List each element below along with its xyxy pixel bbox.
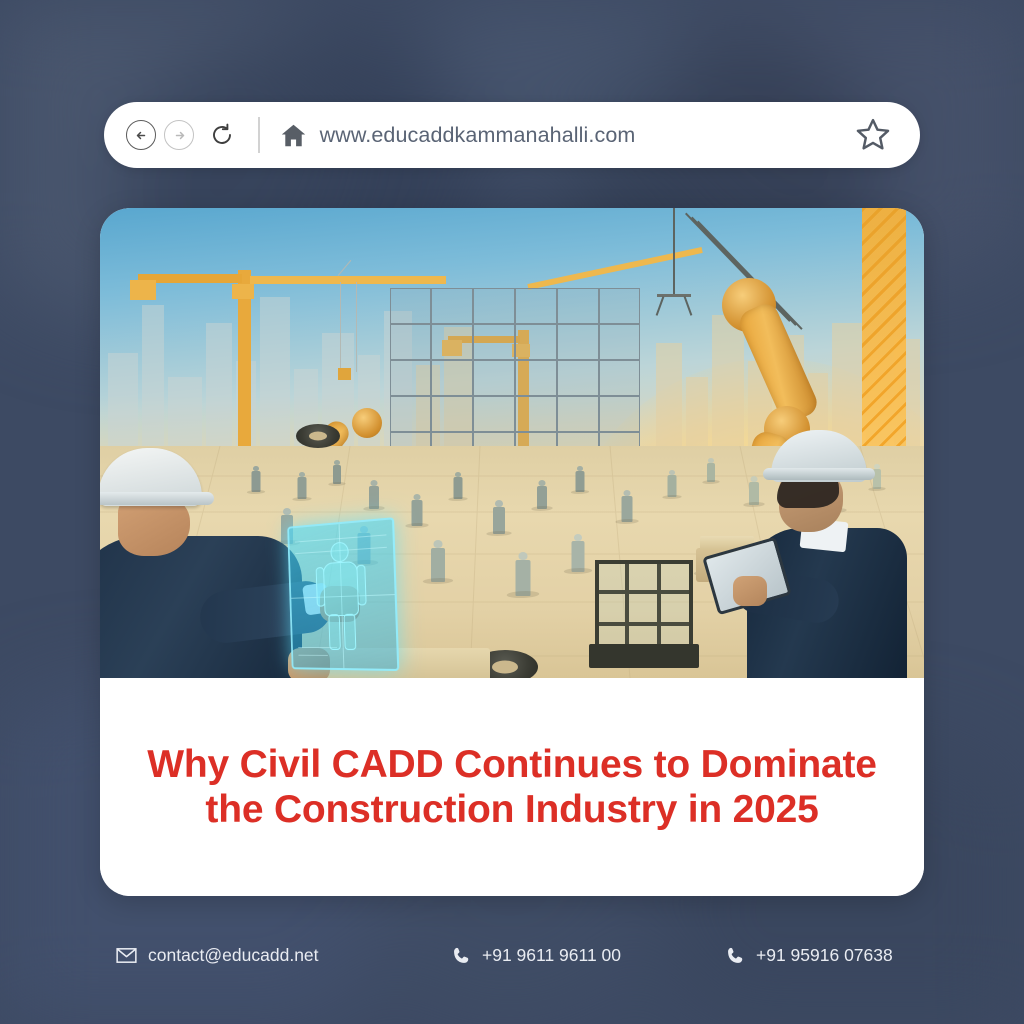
envelope-icon [116,945,137,966]
contact-footer: contact@educadd.net +91 9611 9611 00 +91… [0,928,1024,982]
bookmark-button[interactable] [854,116,920,154]
title-block: Why Civil CADD Continues to Dominate the… [100,678,924,896]
hologram-human-figure [315,540,368,650]
footer-phone-2-label: +91 95916 07638 [756,945,893,966]
footer-email-label: contact@educadd.net [148,945,319,966]
url-text[interactable]: www.educaddkammanahalli.com [320,123,636,148]
phone-icon [726,946,745,965]
footer-email[interactable]: contact@educadd.net [116,945,319,966]
hero-illustration [100,208,924,678]
home-icon[interactable] [280,122,307,149]
reload-icon [209,122,235,148]
footer-phone-1[interactable]: +91 9611 9611 00 [452,945,621,966]
phone-icon [452,946,471,965]
browser-address-bar: www.educaddkammanahalli.com [104,102,920,168]
reload-button[interactable] [206,119,238,151]
back-button[interactable] [126,120,156,150]
arrow-left-circle-icon [133,127,150,144]
arrow-right-circle-icon [171,127,188,144]
page-title: Why Civil CADD Continues to Dominate the… [132,742,892,832]
engineer-with-tablet [727,424,912,678]
browser-nav-buttons [104,119,238,151]
glass-cube-structure [595,560,693,668]
footer-phone-1-label: +91 9611 9611 00 [482,945,621,966]
article-card: Why Civil CADD Continues to Dominate the… [100,208,924,896]
social-post-graphic: www.educaddkammanahalli.com [0,0,1024,1024]
star-outline-icon [854,116,892,154]
holographic-bim-panel [287,517,399,671]
toolbar-divider [258,117,260,153]
forward-button[interactable] [164,120,194,150]
footer-phone-2[interactable]: +91 95916 07638 [726,945,893,966]
